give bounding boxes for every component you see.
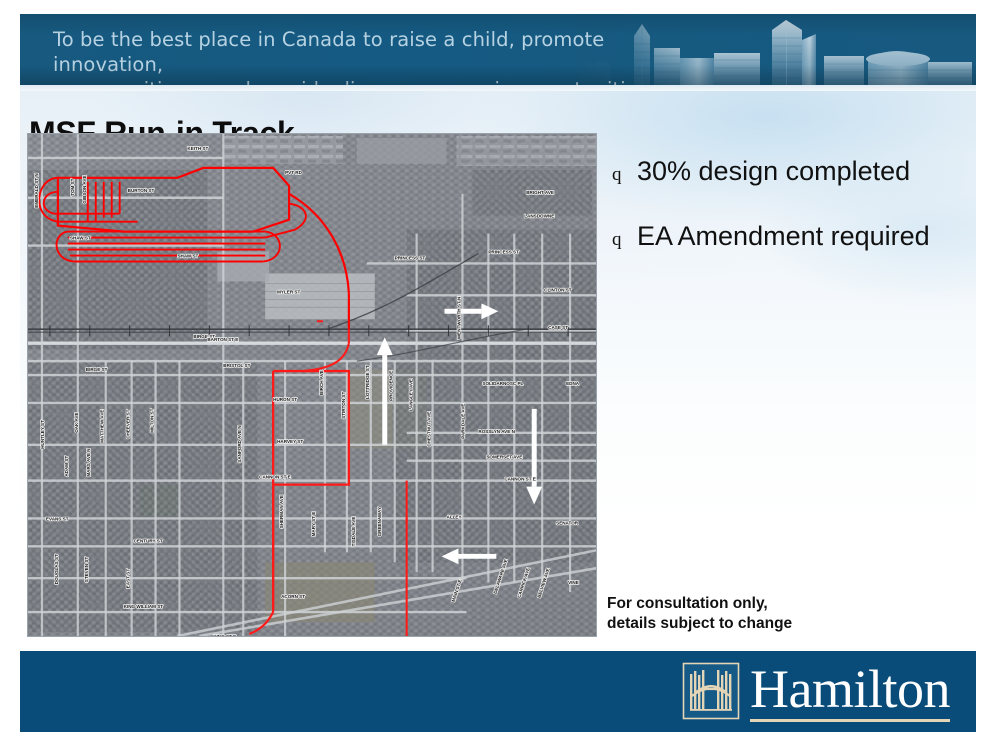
svg-text:EAST ST: EAST ST	[126, 569, 131, 589]
footer-bar: Hamilton	[20, 651, 976, 732]
svg-text:ROSSLYN AVE N: ROSSLYN AVE N	[478, 429, 514, 434]
svg-text:LANGLEY AVE: LANGLEY AVE	[409, 379, 414, 411]
svg-text:BRISTOL ST: BRISTOL ST	[223, 363, 250, 368]
svg-text:WENTWORTH ST N: WENTWORTH ST N	[456, 297, 461, 339]
svg-text:ALLEY: ALLEY	[447, 514, 462, 519]
svg-text:EVANS ST: EVANS ST	[46, 516, 69, 521]
svg-text:PROVIDENCE: PROVIDENCE	[389, 371, 394, 401]
svg-text:HURON ST: HURON ST	[273, 397, 297, 402]
list-item: q EA Amendment required	[612, 222, 982, 252]
svg-text:MARY ST E: MARY ST E	[311, 512, 316, 537]
svg-text:STIRTON ST: STIRTON ST	[341, 392, 346, 419]
svg-text:BIRGE ST: BIRGE ST	[86, 367, 108, 372]
svg-text:EMERALD ST N: EMERALD ST N	[34, 173, 39, 207]
svg-text:GREENAWAY: GREENAWAY	[377, 507, 382, 536]
svg-text:ACORN ST: ACORN ST	[281, 594, 305, 599]
svg-text:MATTHEW AVE: MATTHEW AVE	[100, 410, 105, 443]
svg-text:DOUGLAS ST: DOUGLAS ST	[54, 554, 59, 584]
svg-text:PRINCESS ST: PRINCESS ST	[395, 256, 426, 261]
svg-text:STEVEN ST: STEVEN ST	[84, 557, 89, 583]
svg-text:KING WILLIAM ST: KING WILLIAM ST	[124, 604, 164, 609]
hamilton-wordmark-text: Hamilton	[750, 659, 950, 719]
header-banner: To be the best place in Canada to raise …	[20, 14, 976, 85]
svg-text:MILTON ST: MILTON ST	[150, 408, 155, 432]
svg-text:CLINTON ST: CLINTON ST	[544, 287, 572, 292]
svg-text:BARTON ST E: BARTON ST E	[207, 337, 238, 342]
svg-text:KEITH ST: KEITH ST	[187, 146, 208, 151]
svg-text:BURTON ST: BURTON ST	[128, 188, 155, 193]
disclaimer-note: For consultation only, details subject t…	[607, 594, 792, 634]
svg-text:SOLIDARNOSC PL: SOLIDARNOSC PL	[482, 381, 523, 386]
svg-text:ADAM ST: ADAM ST	[64, 456, 69, 477]
svg-text:SHERMAN AVE: SHERMAN AVE	[279, 495, 284, 528]
svg-text:PVT RD: PVT RD	[285, 170, 302, 175]
bullet-list: q 30% design completed q EA Amendment re…	[612, 157, 982, 286]
svg-text:GIBSON AVE: GIBSON AVE	[82, 175, 87, 203]
bullet-marker-icon: q	[612, 230, 637, 249]
hamilton-brand-logo: Hamilton	[682, 661, 950, 721]
svg-text:VINE: VINE	[568, 580, 579, 585]
svg-text:MYLER ST: MYLER ST	[277, 289, 300, 294]
svg-text:TISDALE AVE: TISDALE AVE	[351, 517, 356, 547]
svg-text:BRIGHT AVE: BRIGHT AVE	[526, 190, 554, 195]
bullet-text: 30% design completed	[637, 157, 910, 187]
svg-text:PARKDALE AVE: PARKDALE AVE	[460, 404, 465, 439]
svg-text:LANSDOWNE: LANSDOWNE	[524, 214, 554, 219]
svg-text:CASE ST: CASE ST	[548, 325, 568, 330]
svg-text:EDNA: EDNA	[566, 381, 580, 386]
svg-text:MARS AVE N: MARS AVE N	[86, 448, 91, 476]
svg-text:TOM ST: TOM ST	[70, 178, 75, 195]
svg-text:CANNON ST E: CANNON ST E	[504, 477, 536, 482]
svg-text:CENTURY ST: CENTURY ST	[134, 538, 163, 543]
svg-text:HARVEY ST: HARVEY ST	[277, 439, 303, 444]
svg-text:SHAW ST: SHAW ST	[177, 254, 198, 259]
hamilton-arch-logo-icon	[682, 662, 740, 720]
svg-text:SOMERSET AVE: SOMERSET AVE	[486, 455, 522, 460]
svg-text:HUNTLEY ST: HUNTLEY ST	[40, 420, 45, 449]
header-tagline: To be the best place in Canada to raise …	[53, 27, 693, 85]
svg-text:SHAW ST: SHAW ST	[70, 236, 91, 241]
wordmark-underline	[750, 719, 950, 722]
svg-text:CHESTNUT AVE: CHESTNUT AVE	[427, 412, 432, 447]
svg-text:SANFORD AVE N: SANFORD AVE N	[237, 425, 242, 462]
bullet-text: EA Amendment required	[637, 222, 930, 252]
list-item: q 30% design completed	[612, 157, 982, 187]
svg-text:BIRCH AVE: BIRCH AVE	[319, 370, 324, 395]
svg-text:OAK AVE: OAK AVE	[74, 412, 79, 432]
hamilton-wordmark: Hamilton	[750, 661, 950, 721]
svg-text:CHEEVER ST: CHEEVER ST	[126, 409, 131, 438]
svg-text:CANNON ST E: CANNON ST E	[259, 475, 291, 480]
presentation-slide: To be the best place in Canada to raise …	[0, 0, 1000, 746]
svg-text:PRINCESS ST: PRINCESS ST	[488, 250, 519, 255]
banner-underline	[20, 85, 976, 91]
bullet-marker-icon: q	[612, 165, 637, 184]
svg-text:SENATOR: SENATOR	[556, 520, 579, 525]
svg-text:KING ST E: KING ST E	[213, 634, 236, 636]
svg-text:LOTTRIDGE ST: LOTTRIDGE ST	[365, 365, 370, 399]
map-image: .stlbl{ font-family:"Liberation Sans",sa…	[28, 134, 596, 636]
aerial-map-figure[interactable]: .stlbl{ font-family:"Liberation Sans",sa…	[27, 133, 597, 637]
